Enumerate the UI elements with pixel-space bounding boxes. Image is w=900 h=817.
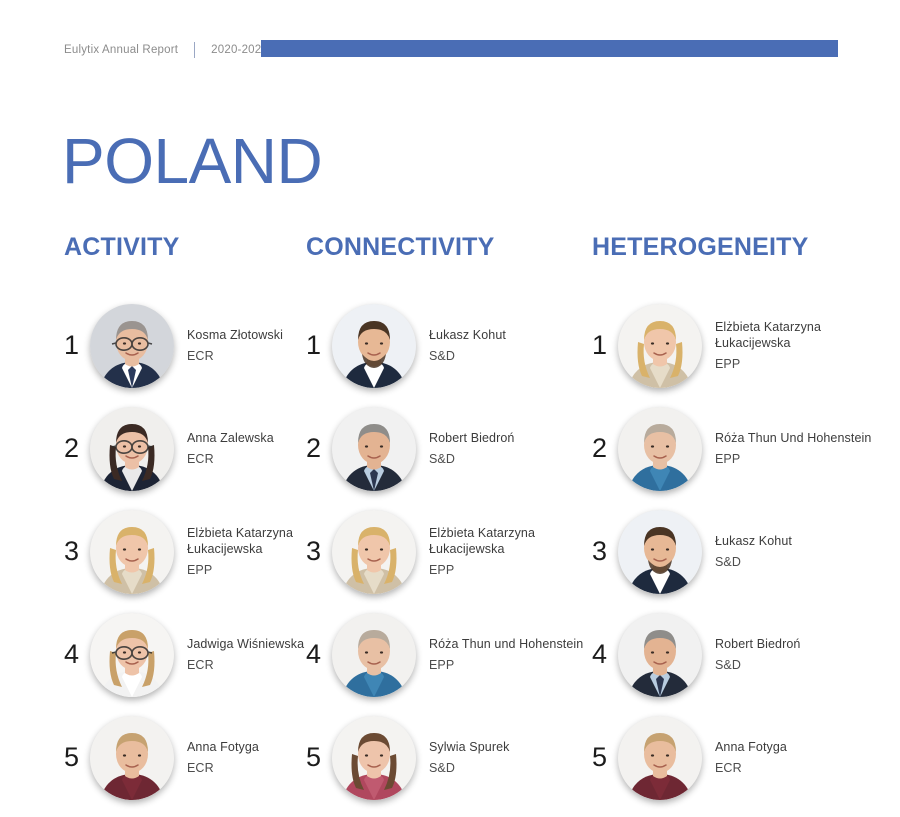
person-info: Łukasz KohutS&D	[429, 327, 586, 364]
rank-row[interactable]: 5	[306, 706, 586, 809]
person-info: Elżbieta Katarzyna ŁukacijewskaEPP	[429, 525, 586, 579]
rank-list: 1	[306, 294, 586, 809]
rank-list: 1	[64, 294, 326, 809]
rank-row[interactable]: 2	[64, 397, 326, 500]
person-party: EPP	[715, 451, 892, 468]
person-name: Robert Biedroń	[715, 636, 892, 653]
avatar	[332, 510, 416, 594]
rank-row[interactable]: 3	[306, 500, 586, 603]
person-party: EPP	[429, 657, 586, 674]
avatar	[90, 510, 174, 594]
rank-row[interactable]: 2 Robert	[306, 397, 586, 500]
rank-number: 2	[64, 435, 90, 462]
person-party: S&D	[429, 760, 586, 777]
rank-row[interactable]: 3	[592, 500, 892, 603]
person-name: Anna Fotyga	[715, 739, 892, 756]
person-name: Róża Thun und Hohenstein	[429, 636, 586, 653]
avatar	[90, 407, 174, 491]
rank-row[interactable]: 5 Anna F	[64, 706, 326, 809]
person-party: ECR	[715, 760, 892, 777]
person-info: Sylwia SpurekS&D	[429, 739, 586, 776]
header-divider	[194, 42, 195, 58]
header-accent-bar	[261, 40, 838, 57]
report-header: Eulytix Annual Report 2020-2021	[64, 40, 268, 60]
person-info: Łukasz KohutS&D	[715, 533, 892, 570]
person-party: EPP	[429, 562, 586, 579]
ranking-column-activity: ACTIVITY1	[64, 232, 326, 809]
avatar	[332, 613, 416, 697]
avatar	[618, 304, 702, 388]
person-info: Róża Thun und HohensteinEPP	[429, 636, 586, 673]
person-party: S&D	[715, 554, 892, 571]
person-info: Anna FotygaECR	[715, 739, 892, 776]
person-party: EPP	[715, 356, 892, 373]
ranking-column-connectivity: CONNECTIVITY1	[306, 232, 586, 809]
rank-number: 1	[64, 332, 90, 359]
column-header: HETEROGENEITY	[592, 232, 892, 266]
person-party: S&D	[429, 451, 586, 468]
rank-row[interactable]: 5 Anna F	[592, 706, 892, 809]
person-name: Róża Thun Und Hohenstein	[715, 430, 892, 447]
rank-number: 3	[306, 538, 332, 565]
person-info: Róża Thun Und HohensteinEPP	[715, 430, 892, 467]
avatar	[90, 304, 174, 388]
rank-row[interactable]: 4 Robert	[592, 603, 892, 706]
person-name: Łukasz Kohut	[715, 533, 892, 550]
rank-list: 1	[592, 294, 892, 809]
rank-number: 5	[64, 744, 90, 771]
rank-number: 5	[592, 744, 618, 771]
rank-row[interactable]: 1	[592, 294, 892, 397]
avatar	[90, 716, 174, 800]
rank-number: 3	[592, 538, 618, 565]
person-name: Robert Biedroń	[429, 430, 586, 447]
avatar	[90, 613, 174, 697]
rank-number: 1	[306, 332, 332, 359]
person-party: S&D	[715, 657, 892, 674]
column-header: CONNECTIVITY	[306, 232, 586, 266]
person-name: Łukasz Kohut	[429, 327, 586, 344]
avatar	[332, 304, 416, 388]
avatar	[618, 407, 702, 491]
rank-row[interactable]: 2 Róża T	[592, 397, 892, 500]
avatar	[618, 716, 702, 800]
person-party: S&D	[429, 348, 586, 365]
rank-number: 1	[592, 332, 618, 359]
ranking-column-heterogeneity: HETEROGENEITY1	[592, 232, 892, 809]
rank-number: 4	[592, 641, 618, 668]
rank-row[interactable]: 1	[64, 294, 326, 397]
page-title: POLAND	[62, 129, 322, 193]
person-name: Elżbieta Katarzyna Łukacijewska	[429, 525, 586, 558]
rank-number: 4	[306, 641, 332, 668]
rank-row[interactable]: 1	[306, 294, 586, 397]
rank-number: 5	[306, 744, 332, 771]
person-name: Elżbieta Katarzyna Łukacijewska	[715, 319, 892, 352]
report-years: 2020-2021	[211, 44, 268, 56]
column-header: ACTIVITY	[64, 232, 326, 266]
rank-number: 4	[64, 641, 90, 668]
person-info: Robert BiedrońS&D	[429, 430, 586, 467]
rank-row[interactable]: 3	[64, 500, 326, 603]
avatar	[332, 407, 416, 491]
avatar	[618, 510, 702, 594]
rank-number: 2	[306, 435, 332, 462]
rank-row[interactable]: 4	[64, 603, 326, 706]
person-name: Sylwia Spurek	[429, 739, 586, 756]
person-info: Elżbieta Katarzyna ŁukacijewskaEPP	[715, 319, 892, 373]
rank-number: 2	[592, 435, 618, 462]
avatar	[332, 716, 416, 800]
rank-row[interactable]: 4 Róża T	[306, 603, 586, 706]
person-info: Robert BiedrońS&D	[715, 636, 892, 673]
rank-number: 3	[64, 538, 90, 565]
report-label: Eulytix Annual Report	[64, 44, 178, 56]
avatar	[618, 613, 702, 697]
